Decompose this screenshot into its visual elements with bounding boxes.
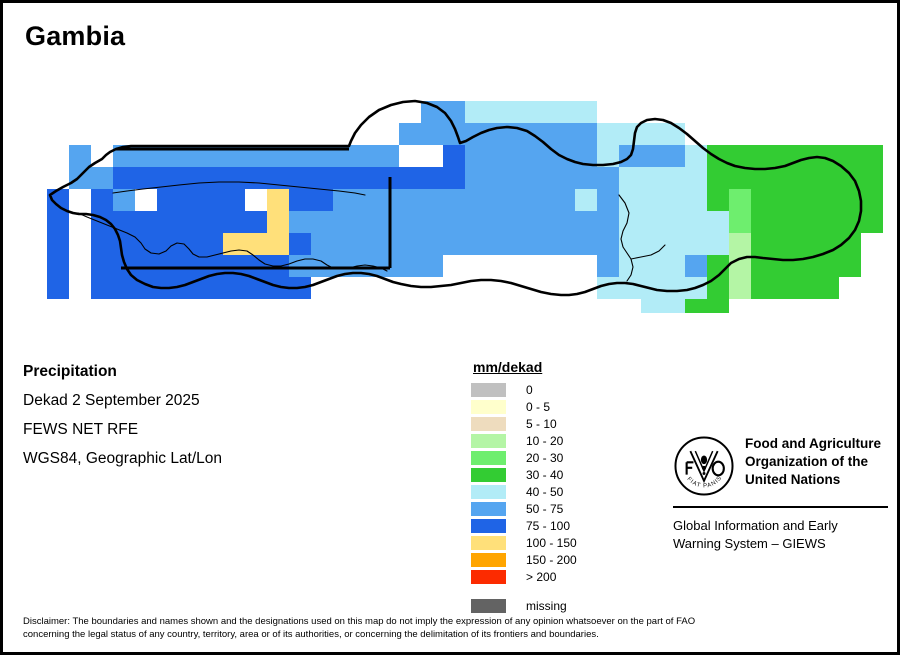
fao-logo-icon: FIAT PANIS xyxy=(673,435,735,497)
legend-item-9[interactable]: 100 - 150 xyxy=(471,534,577,551)
legend-title: mm/dekad xyxy=(473,359,577,375)
legend-swatch-icon xyxy=(471,502,506,516)
info-projection: WGS84, Geographic Lat/Lon xyxy=(23,450,222,468)
disclaimer-line2: concerning the legal status of any count… xyxy=(23,628,883,641)
disclaimer: Disclaimer: The boundaries and names sho… xyxy=(23,615,883,642)
precipitation-raster[interactable] xyxy=(3,63,897,313)
fao-name-line2: Organization of the xyxy=(745,453,881,471)
legend-item-3[interactable]: 10 - 20 xyxy=(471,432,577,449)
info-source: FEWS NET RFE xyxy=(23,421,222,439)
map-info-block: Precipitation Dekad 2 September 2025 FEW… xyxy=(23,363,222,479)
disclaimer-line1: Disclaimer: The boundaries and names sho… xyxy=(23,615,883,628)
legend-label: 0 xyxy=(526,383,533,397)
legend-item-2[interactable]: 5 - 10 xyxy=(471,415,577,432)
legend-swatch-icon xyxy=(471,553,506,567)
legend-label: 40 - 50 xyxy=(526,485,563,499)
map-raster-canvas[interactable] xyxy=(3,63,897,313)
legend-label: 20 - 30 xyxy=(526,451,563,465)
legend-swatch-icon xyxy=(471,570,506,584)
legend-label: > 200 xyxy=(526,570,556,584)
legend-swatch-icon xyxy=(471,417,506,431)
map-page: Gambia xyxy=(0,0,900,655)
legend-item-8[interactable]: 75 - 100 xyxy=(471,517,577,534)
legend-label: 30 - 40 xyxy=(526,468,563,482)
legend-label: 75 - 100 xyxy=(526,519,570,533)
legend-item-missing[interactable]: missing xyxy=(471,597,577,614)
legend-swatch-icon xyxy=(471,536,506,550)
legend-label: missing xyxy=(526,599,567,613)
fao-name-line1: Food and Agriculture xyxy=(745,435,881,453)
svg-text:FIAT PANIS: FIAT PANIS xyxy=(686,475,724,490)
legend-swatch-icon xyxy=(471,400,506,414)
legend-item-0[interactable]: 0 xyxy=(471,381,577,398)
legend-label: 100 - 150 xyxy=(526,536,577,550)
legend: mm/dekad 0 0 - 5 5 - 10 10 - 20 20 - 30 … xyxy=(471,359,577,614)
legend-item-7[interactable]: 50 - 75 xyxy=(471,500,577,517)
legend-label: 5 - 10 xyxy=(526,417,557,431)
giews-line1: Global Information and Early xyxy=(673,517,888,535)
fao-name-line3: United Nations xyxy=(745,471,881,489)
legend-item-6[interactable]: 40 - 50 xyxy=(471,483,577,500)
legend-item-10[interactable]: 150 - 200 xyxy=(471,551,577,568)
info-period: Dekad 2 September 2025 xyxy=(23,392,222,410)
legend-swatch-icon xyxy=(471,468,506,482)
legend-swatch-icon xyxy=(471,519,506,533)
legend-item-4[interactable]: 20 - 30 xyxy=(471,449,577,466)
legend-swatch-icon xyxy=(471,599,506,613)
legend-swatch-icon xyxy=(471,451,506,465)
giews-line2: Warning System – GIEWS xyxy=(673,535,888,553)
legend-label: 0 - 5 xyxy=(526,400,550,414)
fao-divider xyxy=(673,506,888,508)
info-variable: Precipitation xyxy=(23,363,222,381)
legend-label: 10 - 20 xyxy=(526,434,563,448)
legend-label: 150 - 200 xyxy=(526,553,577,567)
legend-item-1[interactable]: 0 - 5 xyxy=(471,398,577,415)
legend-swatch-icon xyxy=(471,434,506,448)
legend-swatch-icon xyxy=(471,383,506,397)
fao-branding-block: FIAT PANIS Food and Agriculture Organiza… xyxy=(673,435,888,552)
legend-item-5[interactable]: 30 - 40 xyxy=(471,466,577,483)
legend-item-11[interactable]: > 200 xyxy=(471,568,577,585)
page-title: Gambia xyxy=(25,21,125,52)
legend-label: 50 - 75 xyxy=(526,502,563,516)
legend-swatch-icon xyxy=(471,485,506,499)
